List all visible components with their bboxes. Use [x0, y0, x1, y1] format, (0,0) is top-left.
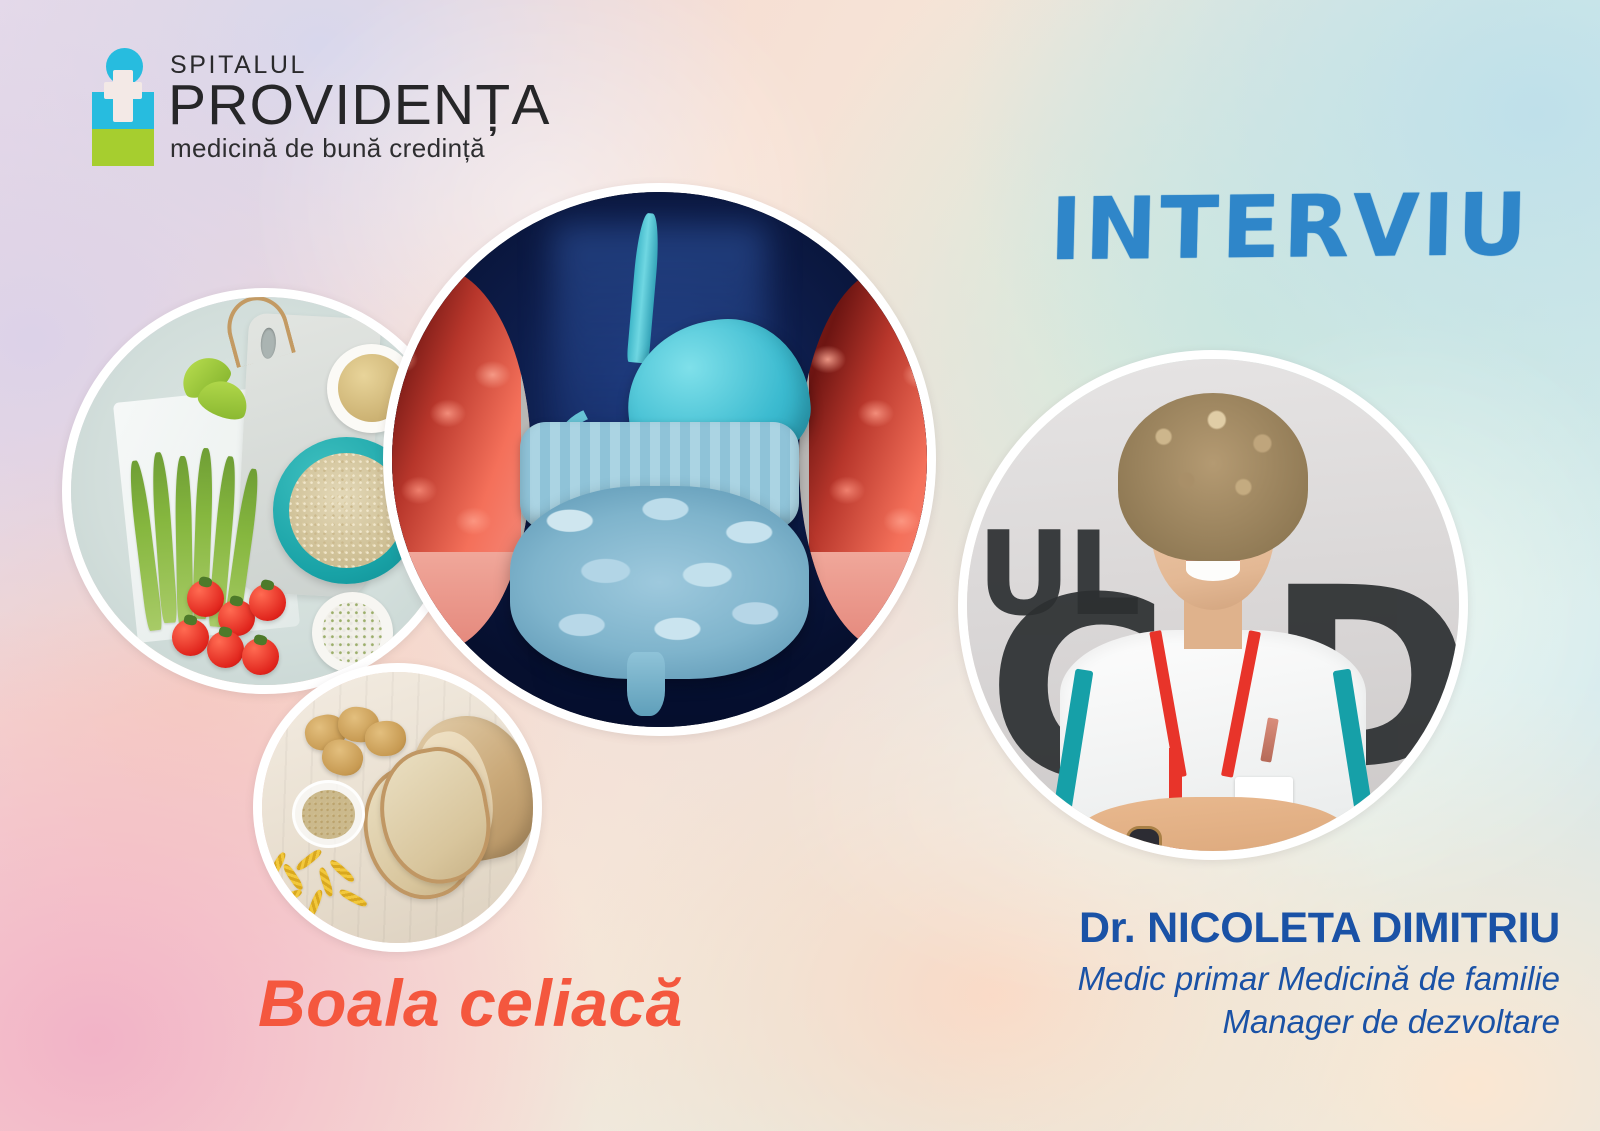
topic-title: Boala celiacă — [258, 965, 683, 1041]
cherry-tomato — [242, 638, 279, 675]
portrait-backdrop: UL C D — [967, 359, 1459, 851]
salt-bowl — [312, 592, 393, 673]
hospital-logo: SPITALUL PROVIDENȚA medicină de bună cre… — [92, 48, 551, 166]
doctor-portrait-image: UL C D — [958, 350, 1468, 860]
board-string — [220, 290, 296, 369]
intestinal-villi-left — [383, 267, 531, 652]
villi-base-tissue — [799, 552, 936, 652]
fusilli-pasta — [338, 888, 368, 909]
doctor-crossed-arms — [1075, 797, 1352, 860]
doctor-name: Dr. NICOLETA DIMITRIU — [960, 905, 1560, 952]
fusilli-pasta — [305, 888, 324, 919]
intestinal-villi-right — [799, 267, 936, 652]
logo-cross-icon — [113, 52, 133, 122]
doctor-curly-hair — [1118, 393, 1307, 560]
grain-bowl — [292, 780, 365, 848]
small-intestine — [510, 486, 810, 679]
logo-wordmark: SPITALUL PROVIDENȚA medicină de bună cre… — [170, 53, 551, 160]
logo-tagline: medicină de bună credință — [170, 135, 551, 161]
anatomy-illustration-surface — [392, 192, 927, 727]
doctor-role-primary: Medic primar Medicină de familie — [960, 958, 1560, 1000]
fusilli-pasta — [328, 858, 356, 884]
doctor-credentials: Dr. NICOLETA DIMITRIU Medic primar Medic… — [960, 905, 1560, 1043]
doctor-smile — [1186, 558, 1240, 582]
person-cross-logo-icon — [92, 48, 154, 166]
cherry-tomato — [207, 631, 244, 668]
interviu-headline: INTERVIU — [1049, 176, 1472, 280]
doctor-figure — [1031, 384, 1395, 860]
rectum — [627, 652, 664, 716]
digestive-system-image — [383, 183, 936, 736]
cherry-tomato — [172, 619, 209, 656]
logo-body-lower — [92, 129, 154, 166]
logo-line-providenta: PROVIDENȚA — [168, 79, 551, 131]
fusilli-pasta — [273, 888, 303, 908]
villi-base-tissue — [383, 552, 531, 652]
poster-canvas: SPITALUL PROVIDENȚA medicină de bună cre… — [0, 0, 1600, 1131]
doctor-role-secondary: Manager de dezvoltare — [960, 1001, 1560, 1043]
